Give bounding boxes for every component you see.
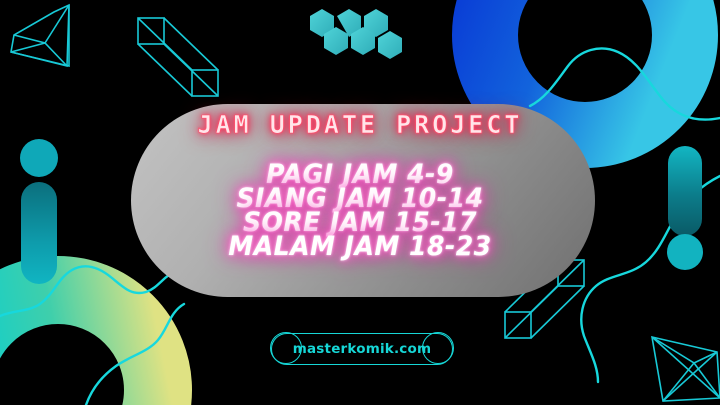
wireframe-bar-top-left [138,18,218,96]
page-title: JAM UPDATE PROJECT [0,112,720,137]
teal-gradient-ring-group [0,290,158,405]
website-url-pill[interactable]: masterkomik.com [271,333,453,365]
teal-gradient-ring [0,290,158,405]
hexagon-cluster [310,9,402,59]
schedule-item-malam: MALAM JAM 18-23 [25,235,695,259]
wireframe-pyramid-top-left [11,5,69,66]
wireframe-pyramid-bottom-right [652,337,720,401]
website-url-text: masterkomik.com [272,334,452,364]
poster-canvas: JAM UPDATE PROJECT PAGI JAM 4-9 SIANG JA… [0,0,720,405]
schedule-list: PAGI JAM 4-9 SIANG JAM 10-14 SORE JAM 15… [0,163,720,259]
